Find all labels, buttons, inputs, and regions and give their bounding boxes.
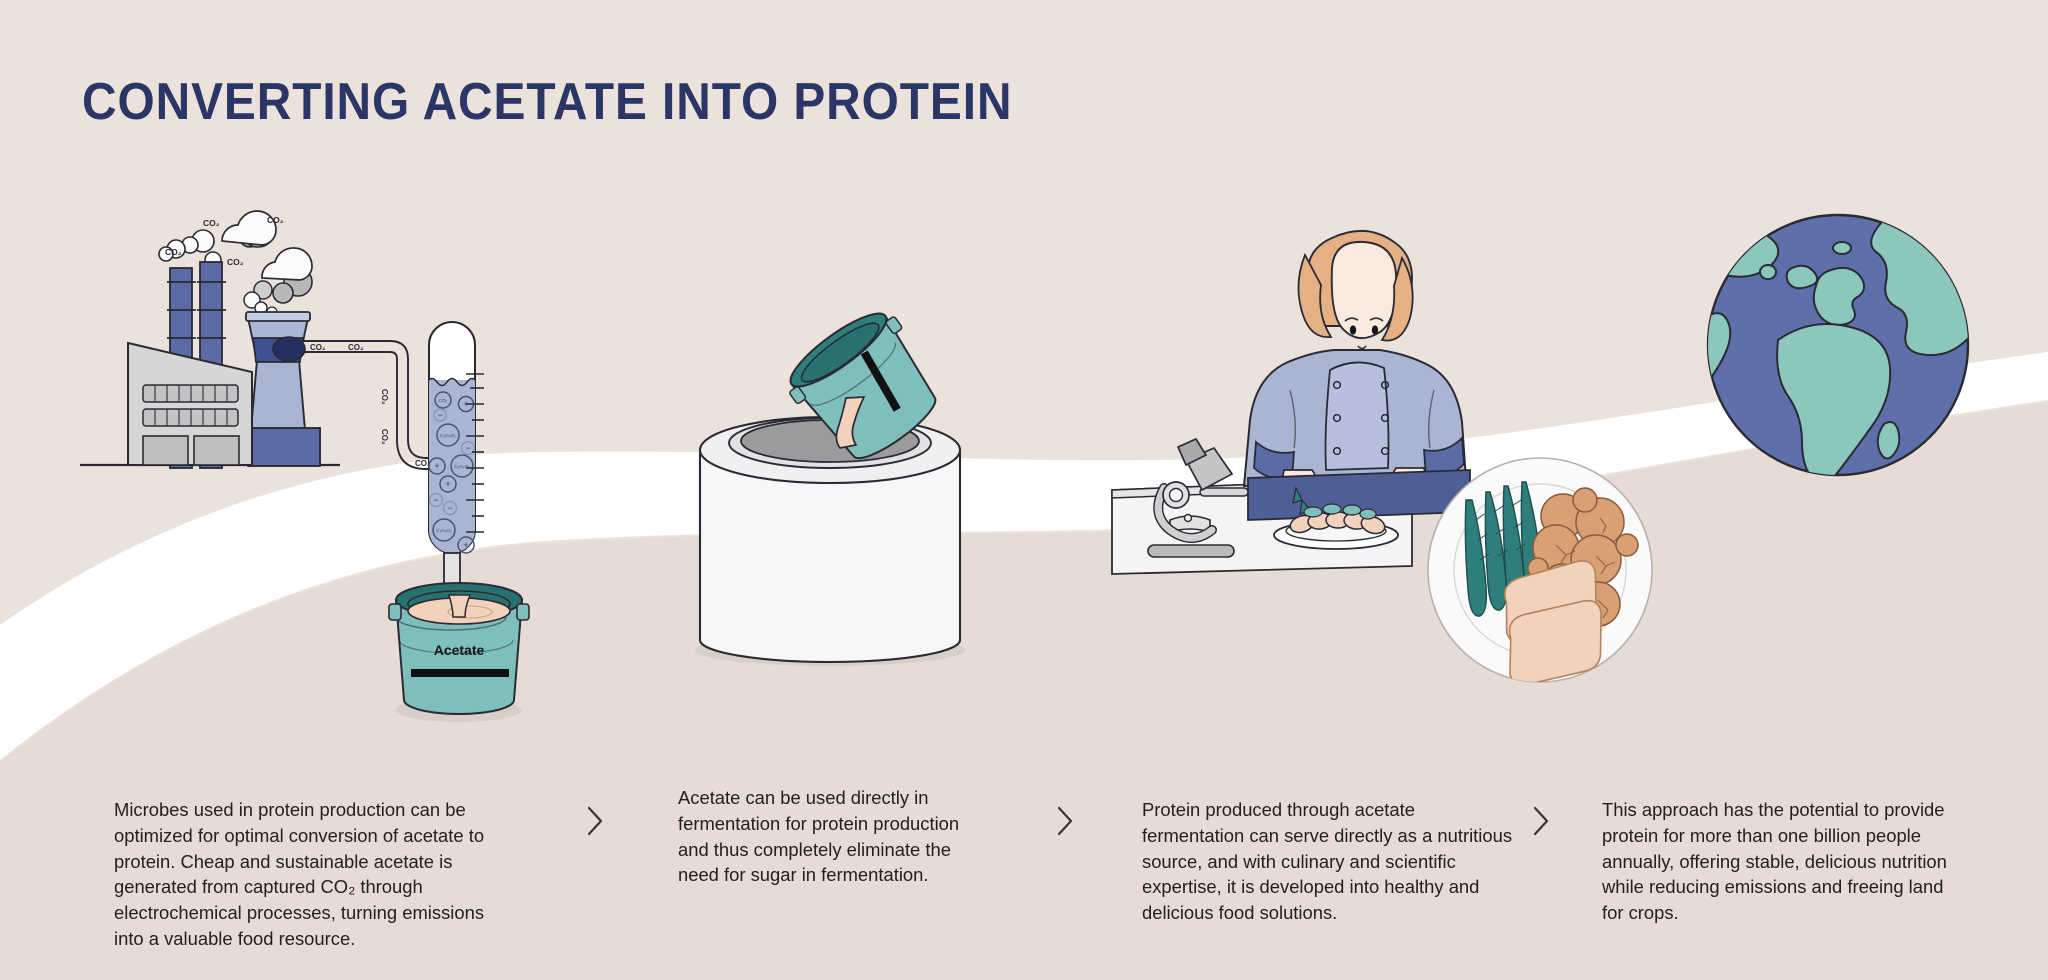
svg-text:CO₂: CO₂ bbox=[439, 398, 448, 403]
svg-text:−: − bbox=[433, 495, 438, 505]
svg-text:CO₂: CO₂ bbox=[203, 218, 220, 228]
caption-stage-1: Microbes used in protein production can … bbox=[114, 797, 514, 952]
chevron-right-icon-2 bbox=[1052, 803, 1078, 839]
svg-text:−: − bbox=[447, 503, 452, 513]
acetate-bucket-label: Acetate bbox=[434, 642, 485, 658]
factory-building bbox=[128, 343, 252, 465]
svg-text:CO₂: CO₂ bbox=[348, 343, 364, 352]
svg-text:C₂H₄O₂: C₂H₄O₂ bbox=[440, 433, 456, 438]
svg-text:CO₂: CO₂ bbox=[227, 257, 244, 267]
svg-text:−: − bbox=[465, 443, 470, 453]
svg-text:CO₂: CO₂ bbox=[380, 429, 389, 445]
chef-face bbox=[1332, 242, 1396, 338]
svg-text:+: + bbox=[445, 479, 450, 489]
electrochemical-column: CO₂ C₂H₄O₂ C₂H₄O₂ C₂H₄O₂ + + + + − − − − bbox=[427, 322, 484, 605]
infographic-page: CONVERTING ACETATE INTO PROTEIN bbox=[0, 0, 2048, 980]
svg-text:CO₂: CO₂ bbox=[310, 343, 326, 352]
acetate-bucket: Acetate bbox=[389, 583, 529, 722]
svg-text:−: − bbox=[437, 410, 442, 420]
svg-text:C₂H₄O₂: C₂H₄O₂ bbox=[436, 528, 452, 533]
svg-text:CO₂: CO₂ bbox=[165, 247, 182, 257]
caption-stage-4: This approach has the potential to provi… bbox=[1602, 797, 1962, 926]
svg-text:+: + bbox=[434, 461, 439, 471]
svg-text:CO₂: CO₂ bbox=[267, 215, 284, 225]
cooling-tower bbox=[246, 312, 320, 466]
caption-stage-3: Protein produced through acetate ferment… bbox=[1142, 797, 1522, 926]
fermenter-illustration bbox=[695, 299, 965, 666]
food-plate-circle bbox=[1428, 458, 1652, 686]
culinary-illustration bbox=[1112, 231, 1470, 574]
chef-figure bbox=[1244, 231, 1470, 525]
caption-row: Microbes used in protein production can … bbox=[0, 785, 2048, 965]
chevron-right-icon-3 bbox=[1528, 803, 1554, 839]
svg-text:CO₂: CO₂ bbox=[380, 389, 389, 405]
chevron-right-icon-1 bbox=[582, 803, 608, 839]
caption-stage-2: Acetate can be used directly in fermenta… bbox=[678, 785, 993, 888]
globe-illustration bbox=[1682, 215, 1987, 483]
factory-illustration: CO₂ CO₂ CO₂ CO₂ bbox=[80, 211, 529, 722]
svg-text:+: + bbox=[463, 540, 468, 550]
co2-pipe: CO₂ CO₂ CO₂ CO₂ CO₂ bbox=[302, 341, 450, 469]
